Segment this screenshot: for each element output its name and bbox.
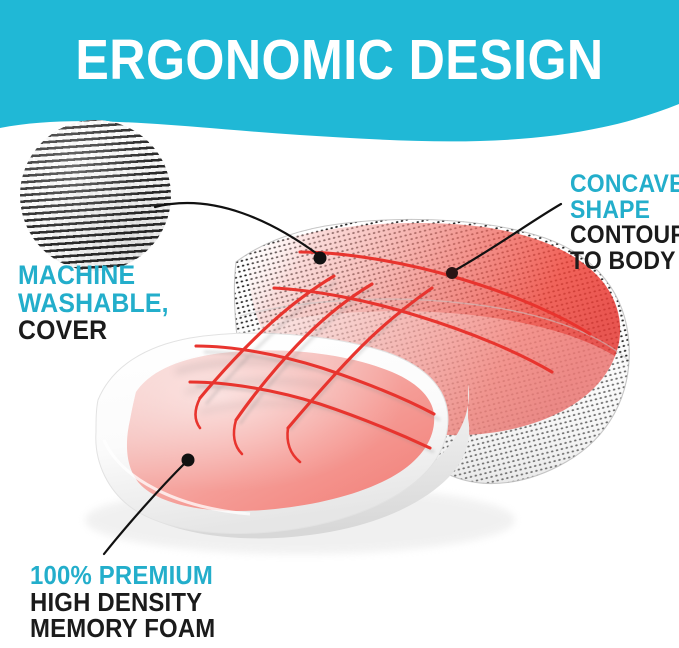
- callout-concave-shape: CONCAVE SHAPE CONTOURS TO BODY: [570, 172, 679, 274]
- callout-concave-shape-line-1: CONCAVE: [570, 172, 679, 198]
- callout-premium-foam-line-2: HIGH DENSITY: [30, 589, 215, 616]
- callout-premium-foam-line-3: MEMORY FOAM: [30, 615, 215, 642]
- callout-machine-washable-line-1: MACHINE: [18, 262, 169, 290]
- callout-premium-foam-line-1: 100% PREMIUM: [30, 562, 215, 589]
- callout-concave-shape-line-3: CONTOURS: [570, 223, 679, 249]
- callout-concave-shape-line-2: SHAPE: [570, 198, 679, 224]
- callout-premium-foam: 100% PREMIUM HIGH DENSITY MEMORY FOAM: [30, 562, 232, 642]
- callout-machine-washable-line-3: COVER: [18, 317, 169, 345]
- infographic-canvas: ERGONOMIC DESIGN: [0, 0, 679, 648]
- callout-machine-washable: MACHINE WASHABLE, COVER: [18, 262, 182, 345]
- callout-machine-washable-line-2: WASHABLE,: [18, 290, 169, 318]
- callout-concave-shape-line-4: TO BODY: [570, 249, 679, 275]
